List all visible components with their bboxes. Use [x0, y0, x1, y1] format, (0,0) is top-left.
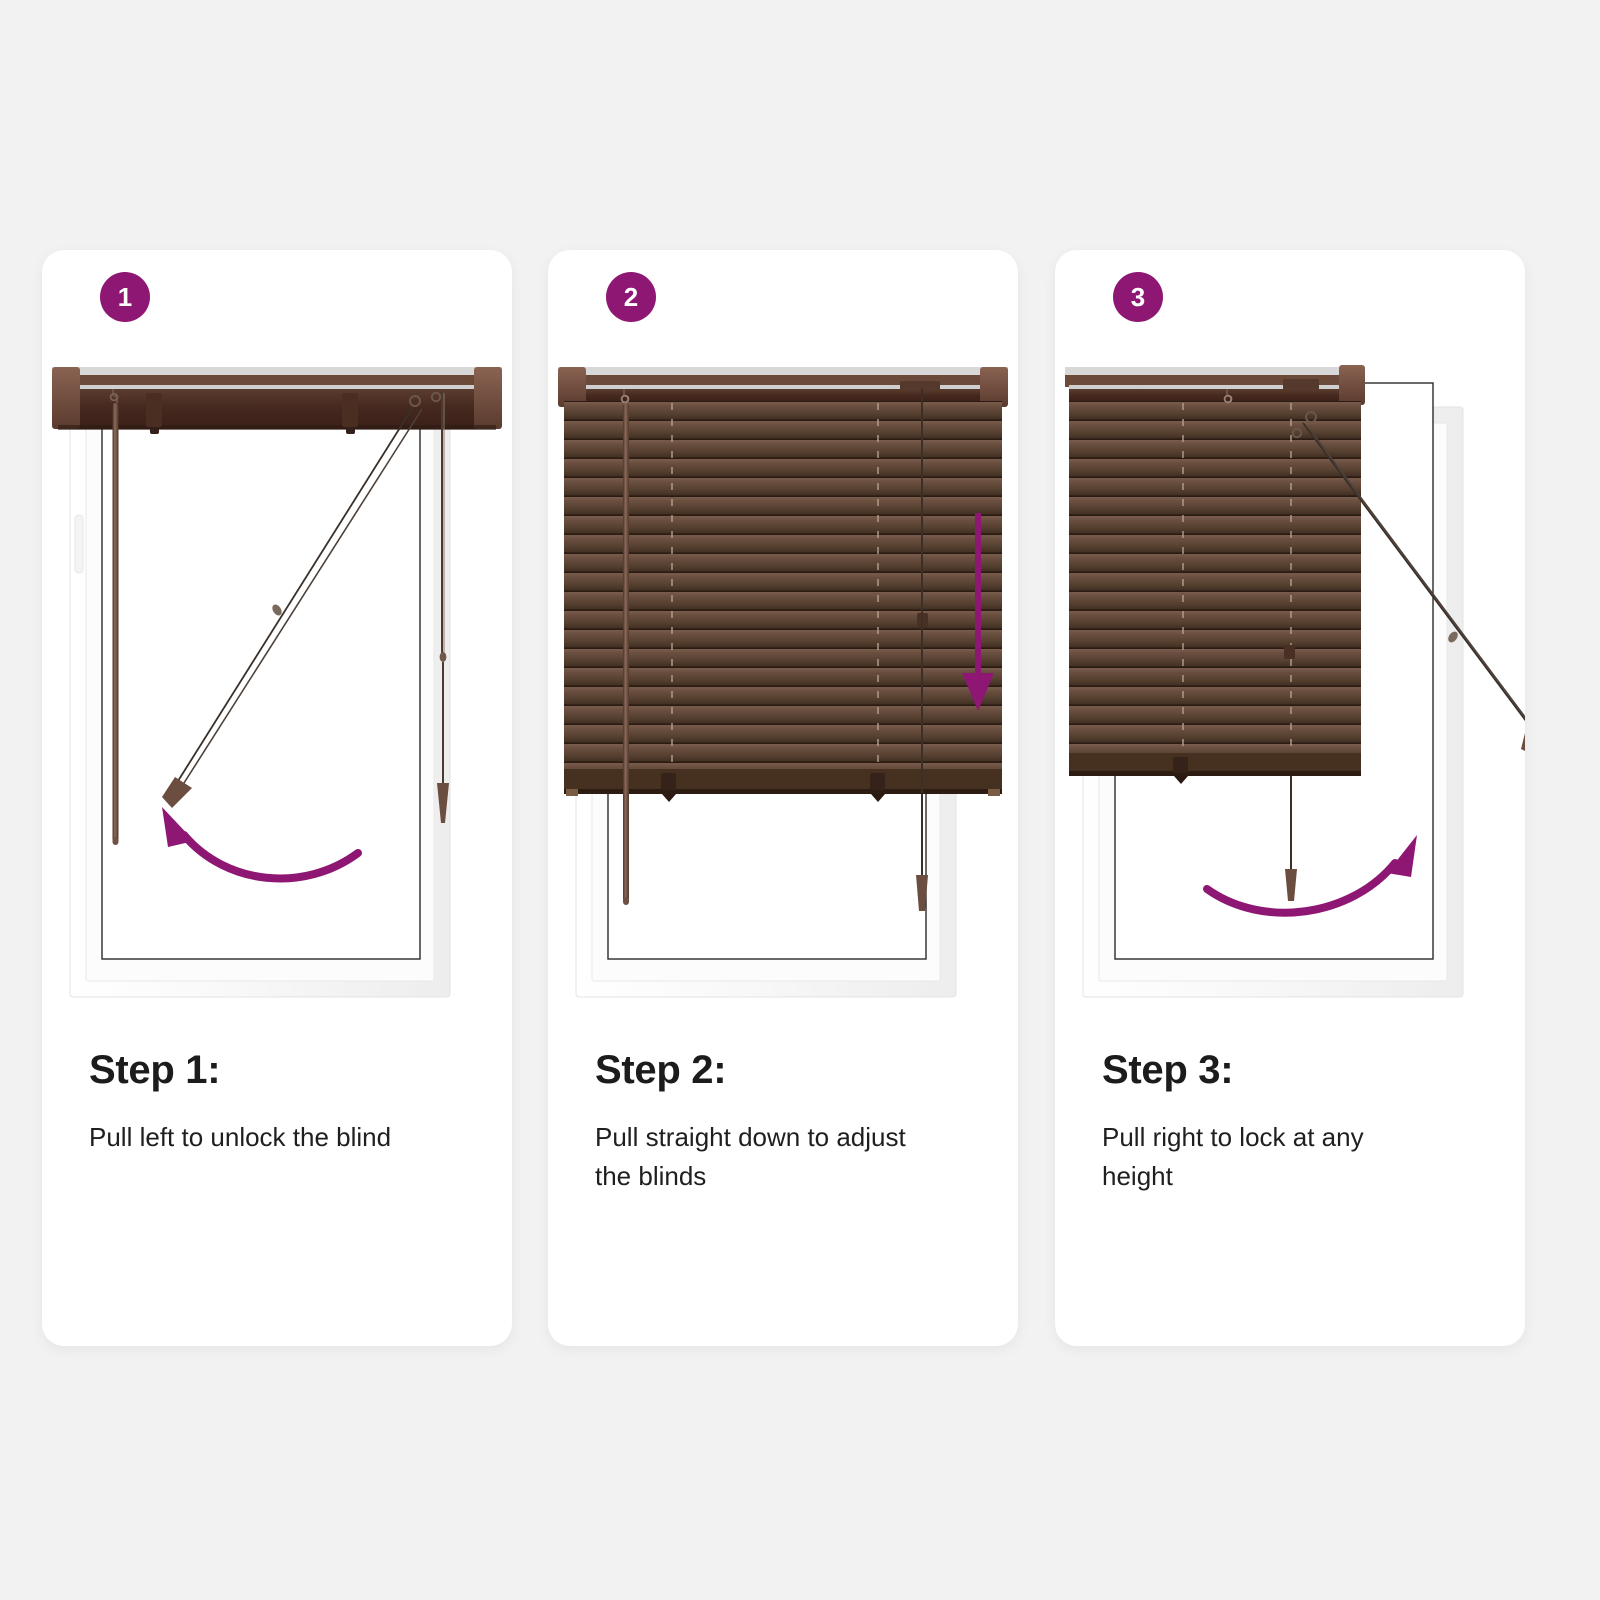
step-badge-2: 2	[606, 272, 656, 322]
step-illustration-2	[548, 345, 1018, 1025]
step-title-3: Step 3:	[1102, 1050, 1502, 1090]
step-illustration-1	[42, 345, 512, 1025]
blind-slats-2	[564, 401, 1002, 802]
step-description-2: Pull straight down to adjust the blinds	[595, 1118, 925, 1196]
step-title-1: Step 1:	[89, 1050, 489, 1090]
step-description-3: Pull right to lock at any height	[1102, 1118, 1432, 1196]
step-text-3: Step 3: Pull right to lock at any height	[1102, 1050, 1502, 1196]
step-text-2: Step 2: Pull straight down to adjust the…	[595, 1050, 995, 1196]
instruction-board: 1	[0, 0, 1600, 1600]
step-badge-3: 3	[1113, 272, 1163, 322]
window-frame-1	[70, 383, 450, 997]
step-badge-1: 1	[100, 272, 150, 322]
headrail-3	[1065, 365, 1365, 405]
step-description-1: Pull left to unlock the blind	[89, 1118, 419, 1157]
step-illustration-3	[1055, 345, 1525, 1025]
step-title-2: Step 2:	[595, 1050, 995, 1090]
step-card-1: 1	[42, 250, 512, 1346]
blind-slats-3	[1069, 401, 1361, 784]
step-card-3: 3	[1055, 250, 1525, 1346]
step-card-2: 2	[548, 250, 1018, 1346]
step-text-1: Step 1: Pull left to unlock the blind	[89, 1050, 489, 1157]
